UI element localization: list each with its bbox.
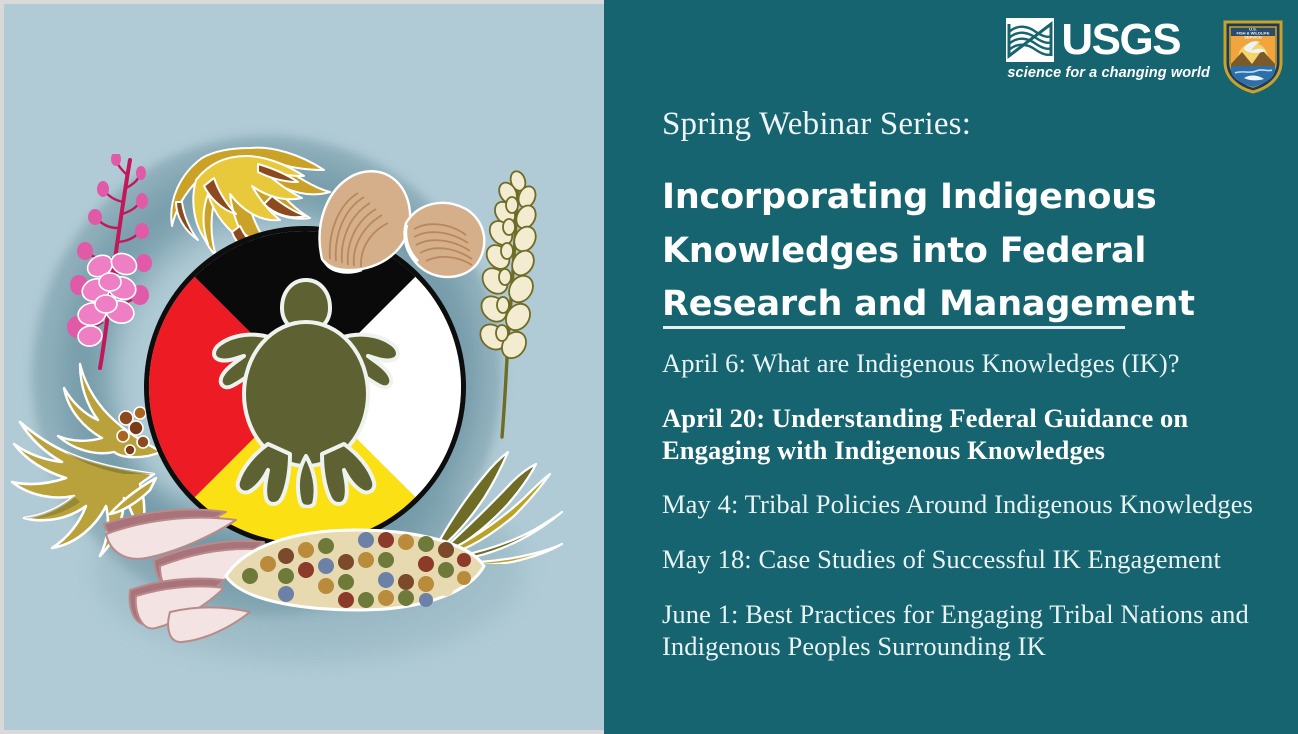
session-list: April 6: What are Indigenous Knowledges … — [662, 348, 1274, 663]
session-item[interactable]: April 20: Understanding Federal Guidance… — [662, 403, 1274, 467]
usgs-logo: USGS science for a changing world — [1006, 18, 1210, 81]
session-item[interactable]: June 1: Best Practices for Engaging Trib… — [662, 599, 1274, 663]
session-item[interactable]: April 6: What are Indigenous Knowledges … — [662, 348, 1274, 380]
fws-line-3: SERVICE — [1244, 35, 1262, 40]
session-item[interactable]: May 4: Tribal Policies Around Indigenous… — [662, 489, 1274, 521]
clam-shells-icon — [304, 167, 490, 287]
series-kicker: Spring Webinar Series: — [662, 106, 971, 143]
usgs-wordmark: USGS — [1061, 20, 1180, 60]
artwork-panel — [4, 4, 604, 730]
turtle-icon — [210, 276, 402, 508]
fws-shield-icon: U.S. FISH & WILDLIFE SERVICE — [1222, 18, 1284, 94]
usgs-tagline: science for a changing world — [1007, 65, 1210, 81]
info-panel: USGS science for a changing world — [604, 0, 1298, 734]
title-divider — [663, 326, 1125, 329]
agency-logo-row: USGS science for a changing world — [1006, 18, 1284, 94]
usgs-mark-row: USGS — [1006, 18, 1180, 62]
usgs-wave-icon — [1006, 18, 1054, 62]
page-title: Incorporating Indigenous Knowledges into… — [662, 171, 1222, 331]
webinar-promo-slide: USGS science for a changing world — [0, 0, 1298, 734]
indian-corn-icon — [220, 514, 490, 624]
session-item[interactable]: May 18: Case Studies of Successful IK En… — [662, 544, 1274, 576]
